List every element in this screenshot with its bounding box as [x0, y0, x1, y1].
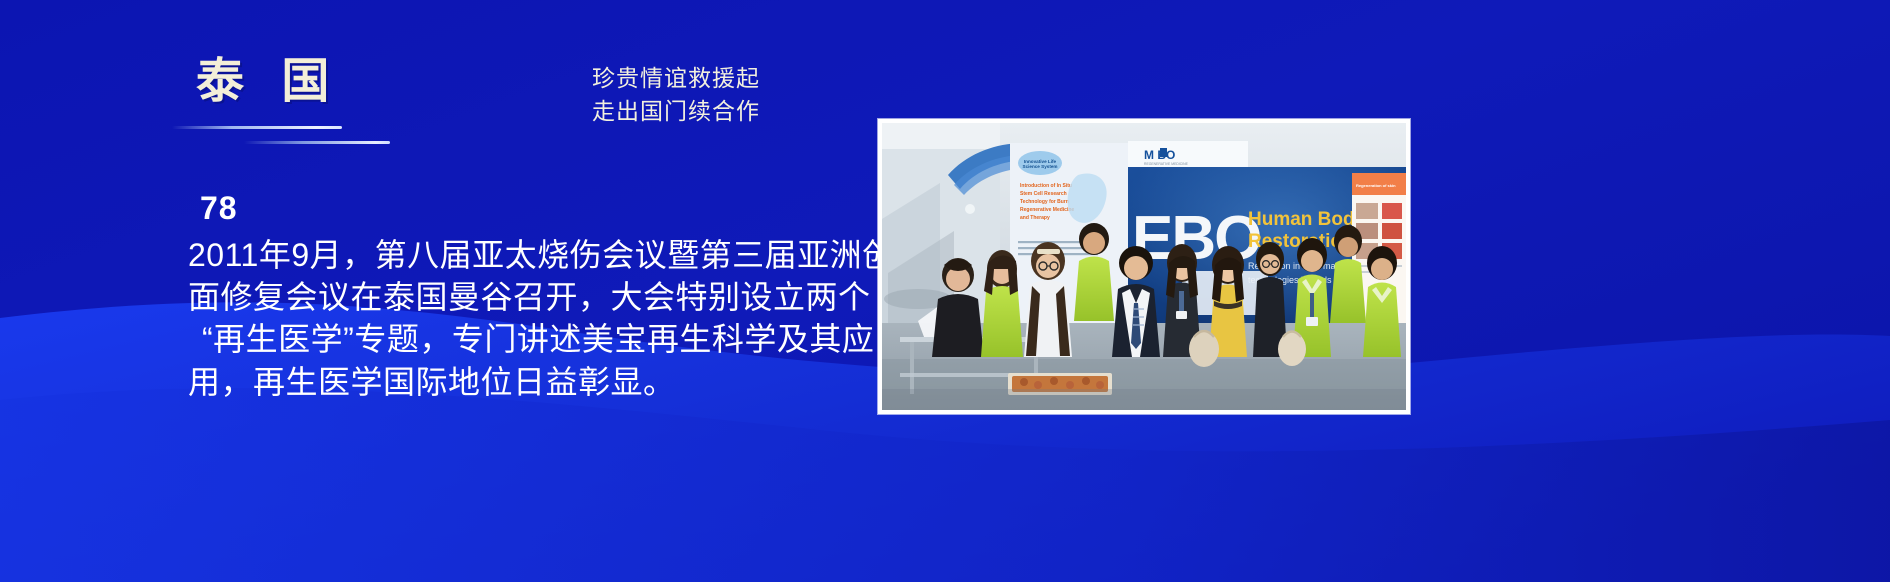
svg-text:Introduction of In Situ: Introduction of In Situ: [1020, 183, 1072, 189]
subtitle-couplet: 珍贵情谊救援起 走出国门续合作: [592, 62, 760, 127]
svg-text:Stem Cell Research: Stem Cell Research: [1020, 191, 1067, 197]
presentation-slide: 泰 国 珍贵情谊救援起 走出国门续合作 78 2011年9月，第八届亚太烧伤会议…: [0, 0, 1890, 582]
title-underline-primary: [172, 126, 342, 129]
page-title: 泰 国: [196, 58, 576, 106]
title-block: 泰 国: [196, 58, 576, 152]
body-block: 78 2011年9月，第八届亚太烧伤会议暨第三届亚洲创 面修复会议在泰国曼谷召开…: [188, 192, 888, 403]
body-paragraph-line: 面修复会议在泰国曼谷召开，大会特别设立两个: [188, 276, 888, 318]
svg-text:REGENERATIVE MEDICINE: REGENERATIVE MEDICINE: [1144, 162, 1189, 166]
svg-text:Science System: Science System: [1023, 164, 1058, 169]
body-paragraph-line: “再生医学”专题，专门讲述美宝再生科学及其应: [188, 318, 888, 360]
item-number: 78: [200, 192, 888, 224]
body-paragraph-line: 用，再生医学国际地位日益彰显。: [188, 361, 888, 403]
title-underline-secondary: [244, 141, 390, 144]
subtitle-line-1: 珍贵情谊救援起: [592, 62, 760, 95]
svg-text:Technology for Burn: Technology for Burn: [1020, 199, 1069, 205]
photo-frame: Innovative Life Science System Introduct…: [878, 119, 1410, 414]
svg-text:and Therapy: and Therapy: [1020, 215, 1050, 221]
photo-illustration: Innovative Life Science System Introduct…: [882, 123, 1406, 410]
conference-group-photo: Innovative Life Science System Introduct…: [882, 123, 1406, 410]
title-underline-group: [196, 126, 576, 152]
body-paragraph-line: 2011年9月，第八届亚太烧伤会议暨第三届亚洲创: [188, 234, 888, 276]
subtitle-line-2: 走出国门续合作: [592, 95, 760, 128]
svg-text:Regeneration of skin: Regeneration of skin: [1356, 183, 1396, 188]
svg-text:Regenerative Medicine: Regenerative Medicine: [1020, 207, 1074, 213]
svg-text:M BO: M BO: [1144, 148, 1175, 162]
